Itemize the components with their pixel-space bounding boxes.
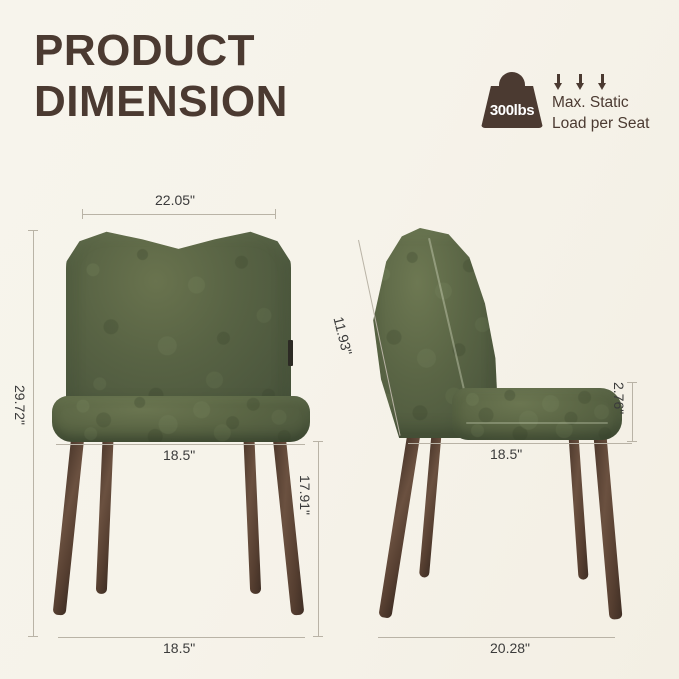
dimension-tick	[82, 209, 83, 219]
chair-leg-side-front	[593, 429, 623, 619]
dimension-line-seat-depth	[408, 443, 632, 444]
upholstery-texture	[52, 396, 310, 442]
dimension-tick	[627, 382, 637, 383]
dimension-label-overall-height: 29.72"	[12, 385, 28, 425]
dimension-label-seat-width: 18.5"	[163, 447, 195, 463]
dimension-label-base-width: 18.5"	[163, 640, 195, 656]
chair-leg-front-right	[272, 429, 304, 615]
chair-leg-side-rear	[378, 429, 421, 619]
dimension-label-base-depth: 20.28"	[490, 640, 530, 656]
chair-leg-front-left	[53, 429, 85, 615]
chair-leg-back-right	[243, 428, 261, 594]
chair-leg-back-left	[96, 428, 114, 594]
dimension-label-seat-thickness: 2.76"	[611, 382, 627, 414]
dimension-label-seat-height: 17.91"	[297, 475, 313, 515]
dimension-line-base-depth	[378, 637, 615, 638]
chair-seat-side	[452, 388, 622, 440]
dimension-tick	[313, 441, 323, 442]
upholstery-texture	[66, 228, 291, 418]
chair-backrest-front	[66, 228, 291, 418]
dimension-tick	[28, 230, 38, 231]
dimension-tick	[313, 636, 323, 637]
dimension-label-seat-depth: 18.5"	[490, 446, 522, 462]
dimension-line-overall-height	[33, 230, 34, 636]
product-dimension-infographic: PRODUCT DIMENSION 300lbs Max. Static Loa…	[0, 0, 679, 679]
chair-leg-side-rear-inner	[419, 428, 442, 578]
dimension-line-overall-width	[82, 214, 276, 215]
seat-piping	[466, 422, 608, 424]
chair-seat-front	[52, 396, 310, 442]
dimension-line-seat-height	[318, 441, 319, 637]
dimension-tick	[627, 441, 637, 442]
upholstery-texture	[452, 388, 622, 440]
fabric-tag	[288, 340, 293, 366]
side-view-chair: 11.93" 2.76" 18.5" 20.28"	[340, 0, 679, 679]
front-view-chair: 22.05" 29.72" 18.5" 17.91" 18.5"	[0, 0, 340, 679]
dimension-tick	[275, 209, 276, 219]
dimension-line-base-width	[58, 637, 305, 638]
chair-leg-side-front-inner	[568, 428, 589, 580]
dimension-line-seat-width	[56, 444, 305, 445]
dimension-line-seat-thickness	[632, 382, 633, 442]
dimension-tick	[28, 636, 38, 637]
dimension-label-overall-width: 22.05"	[155, 192, 195, 208]
